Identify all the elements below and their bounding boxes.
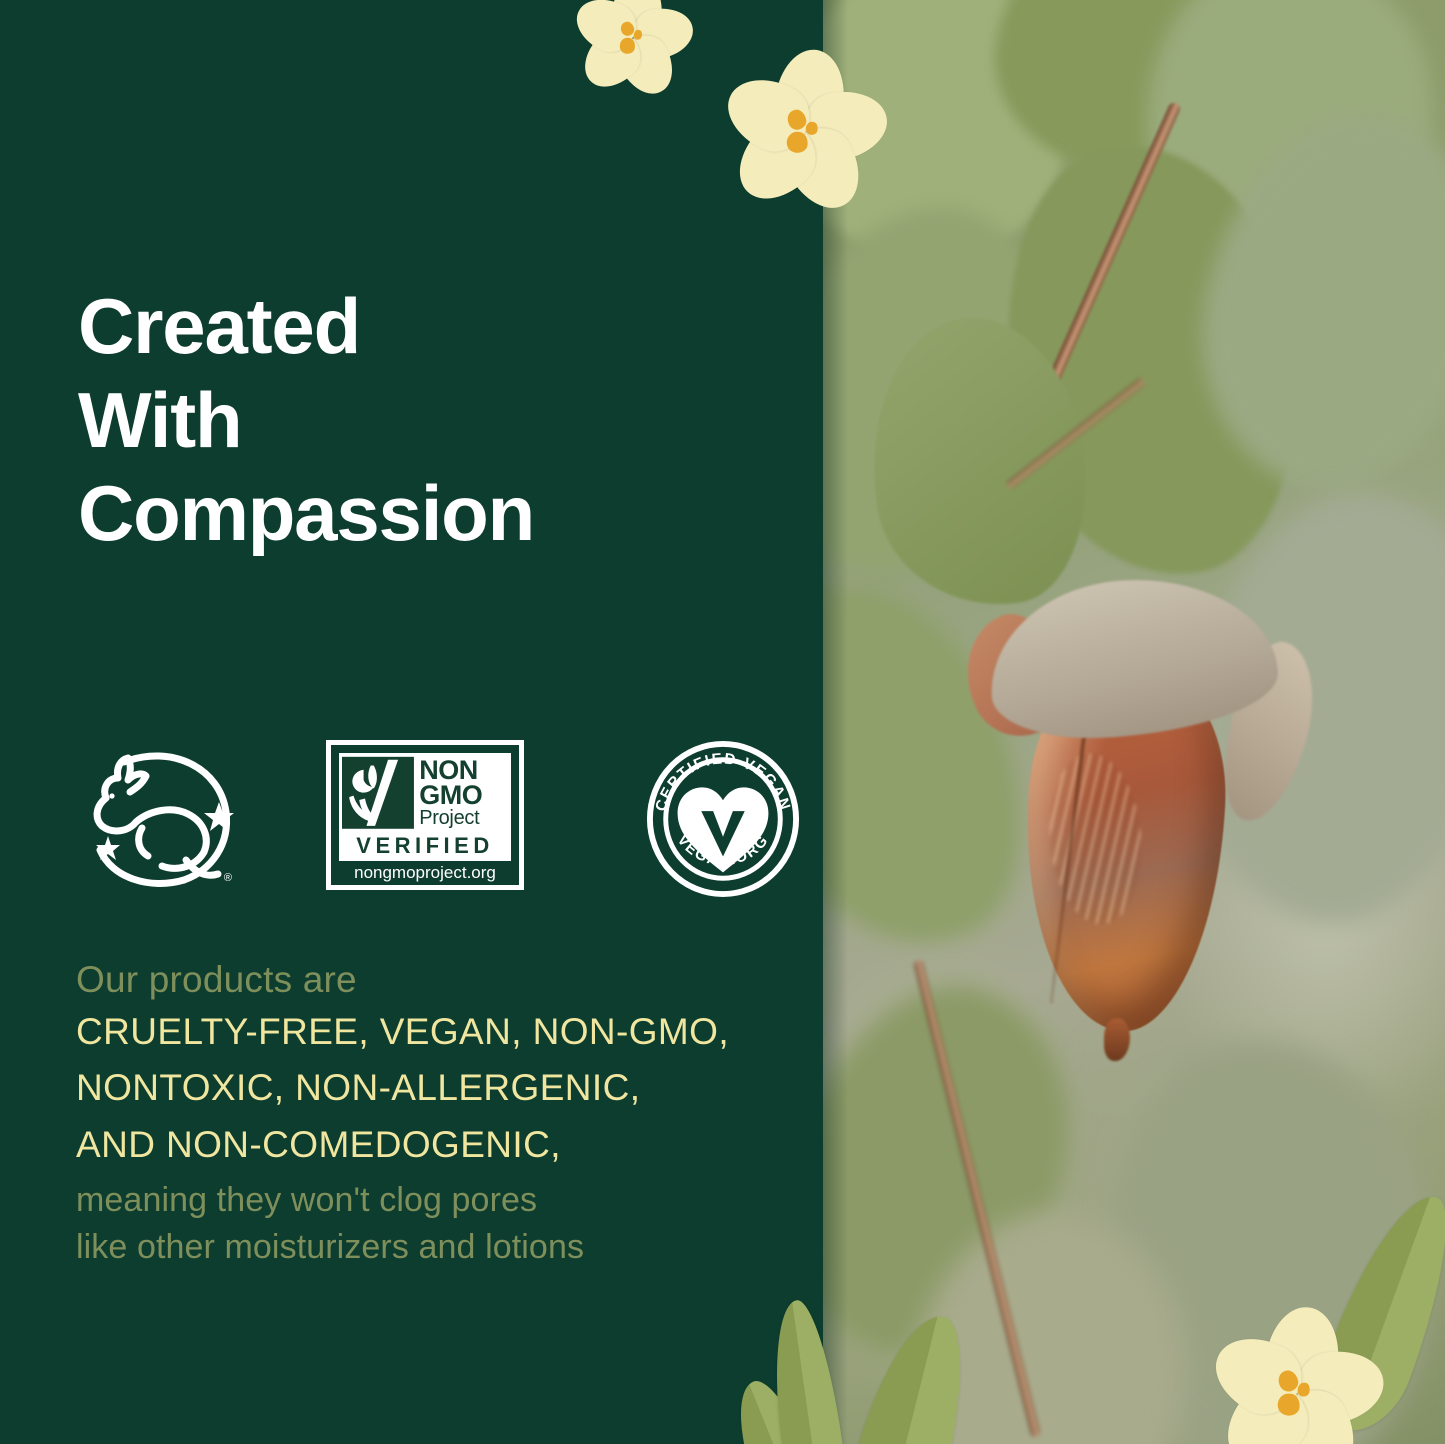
non-gmo-project-verified-icon: NON GMO Project VERIFIED nongmoproject.o… [326,740,524,890]
non-gmo-line-3: Project [419,808,511,828]
flower-center-dot [633,29,643,40]
decorative-flower-icon [579,0,687,92]
flower-center [1277,1371,1318,1418]
flower-center-dot [619,37,636,54]
flower-center-dot [785,131,808,154]
claims-lead-text: Our products are [76,956,796,1004]
butterfly-plant-mark [339,753,417,833]
non-gmo-url: nongmoproject.org [331,861,519,885]
decorative-flower-icon [731,58,879,206]
promotional-banner: Created With Compassion [0,0,1445,1444]
flower-center-dot [1296,1382,1311,1398]
jojoba-nut [984,606,1283,1039]
non-gmo-line-1: NON [419,758,511,783]
non-gmo-line-2: GMO [419,783,511,808]
flower-center-dot [1276,1393,1300,1418]
product-claims: Our products are CRUELTY-FREE, VEGAN, NO… [76,956,796,1272]
claims-explanation-text: meaning they won't clog pores like other… [76,1177,796,1272]
nut-ridges [1042,750,1147,929]
claims-highlight-text: CRUELTY-FREE, VEGAN, NON-GMO, NONTOXIC, … [76,1004,796,1173]
registered-trademark-symbol: ® [224,872,232,884]
non-gmo-verified-label: VERIFIED [339,833,511,859]
flower-center-dot [805,120,819,135]
certification-badges: ® [76,740,776,900]
page-title: Created With Compassion [78,280,534,561]
jojoba-nut-photo [822,0,1445,1444]
certified-vegan-icon: CERTIFIED VEGAN VEGAN.ORG [644,740,802,898]
flower-center [786,110,824,154]
leaping-bunny-icon: ® [76,740,244,900]
flower-center [619,22,647,54]
decorative-flower-icon [1219,1316,1375,1444]
